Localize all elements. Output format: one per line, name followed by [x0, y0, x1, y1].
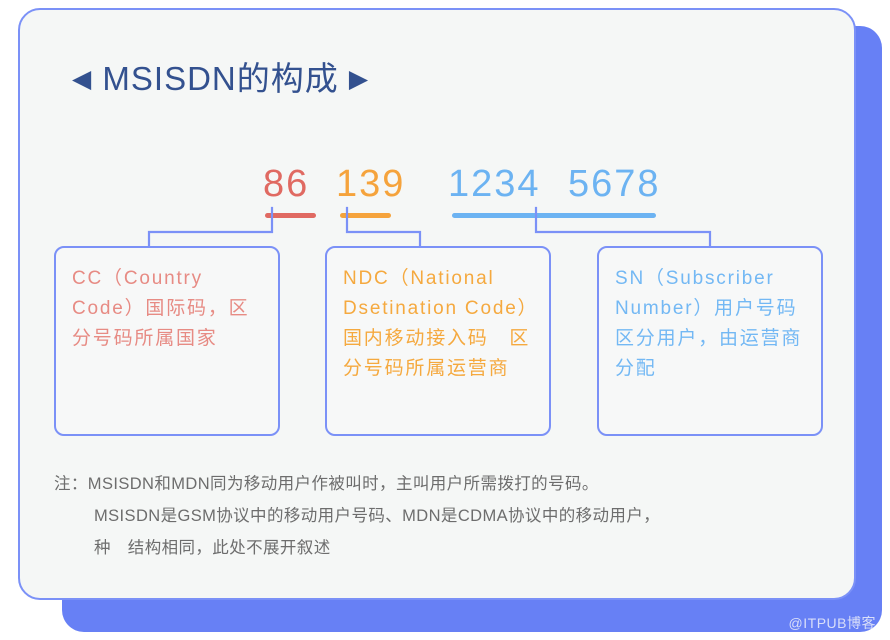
footnote-line-1: 注：MSISDN和MDN同为移动用户作被叫时，主叫用户所需拨打的号码。: [54, 468, 834, 500]
info-box-ndc-text: NDC（National Dsetination Code）国内移动接入码 区分…: [343, 264, 535, 384]
info-box-ndc: NDC（National Dsetination Code）国内移动接入码 区分…: [325, 246, 551, 436]
footnote: 注：MSISDN和MDN同为移动用户作被叫时，主叫用户所需拨打的号码。 MSIS…: [54, 468, 834, 565]
msisdn-card: ◀ MSISDN的构成 ▶ 86 139 1234 5678: [18, 8, 856, 600]
info-box-sn: SN（Subscriber Number）用户号码 区分用户，由运营商分配: [597, 246, 823, 436]
underline-cc: [265, 213, 316, 218]
number-segment-ndc: 139: [336, 165, 405, 203]
info-box-cc-text: CC（Country Code）国际码，区分号码所属国家: [72, 264, 264, 354]
underline-sn: [452, 213, 656, 218]
info-box-sn-text: SN（Subscriber Number）用户号码 区分用户，由运营商分配: [615, 264, 807, 384]
footnote-line-2: MSISDN是GSM协议中的移动用户号码、MDN是CDMA协议中的移动用户，: [54, 500, 834, 532]
info-box-cc: CC（Country Code）国际码，区分号码所属国家: [54, 246, 280, 436]
footnote-line-3: 种 结构相同，此处不展开叙述: [54, 532, 834, 564]
underline-ndc: [340, 213, 391, 218]
watermark: @ITPUB博客: [789, 613, 876, 633]
number-segment-sn2: 5678: [568, 165, 661, 203]
number-segment-sn1: 1234: [448, 165, 541, 203]
number-segment-cc: 86: [263, 165, 309, 203]
diagram-canvas: ◀ MSISDN的构成 ▶ 86 139 1234 5678: [0, 0, 890, 640]
